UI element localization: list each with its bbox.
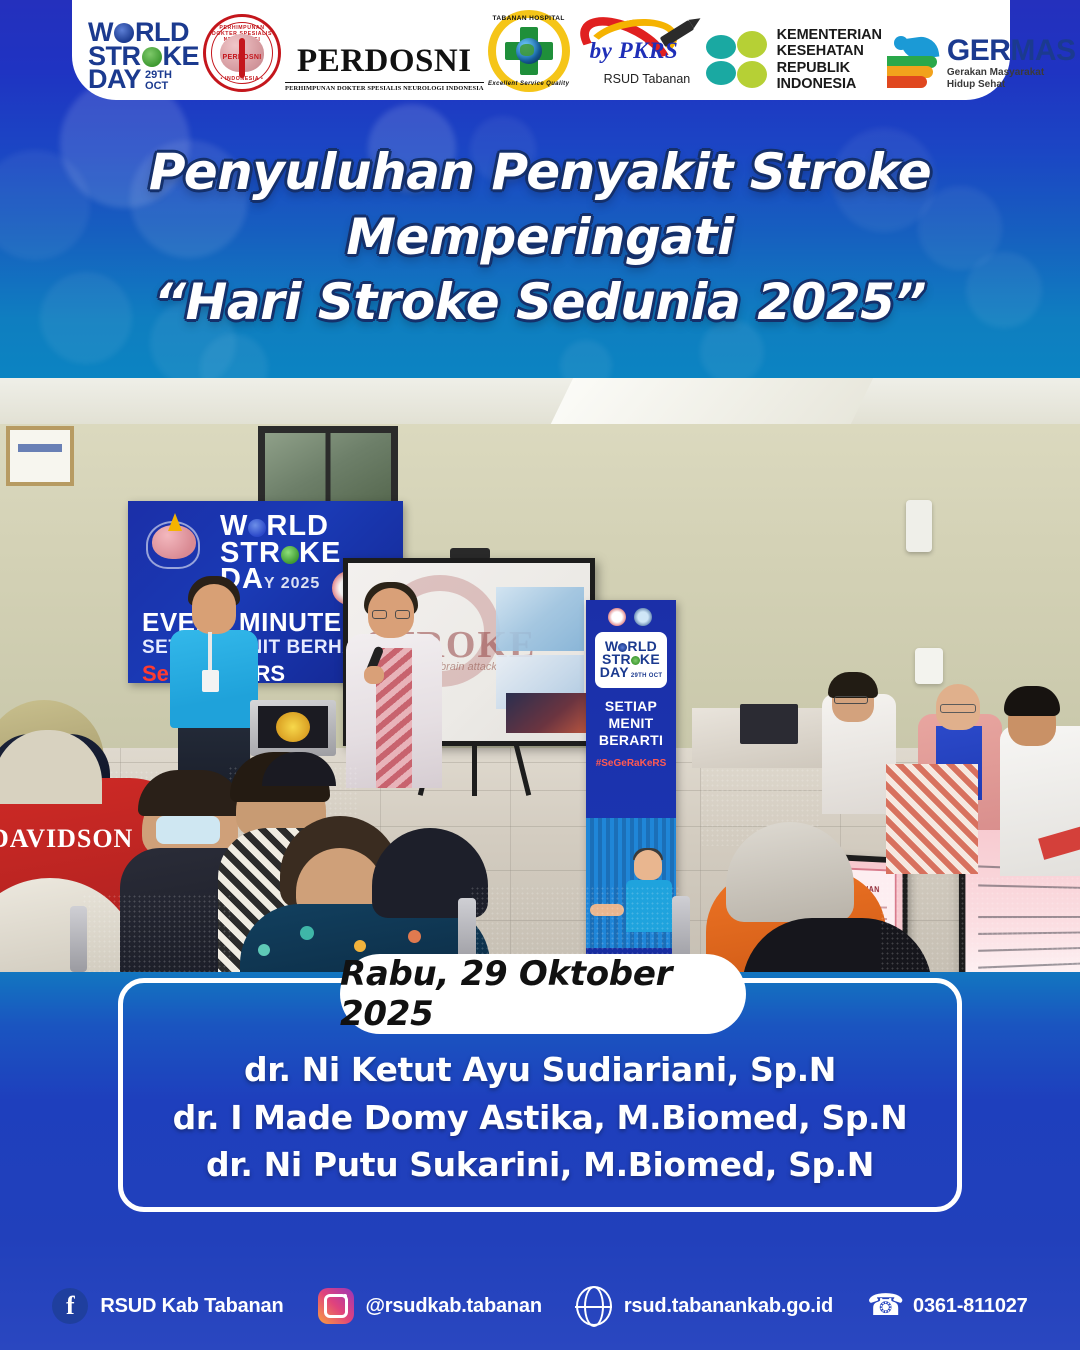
wsd-day: DAY bbox=[88, 68, 141, 92]
kemenkes-line-3: REPUBLIK bbox=[777, 60, 882, 76]
speaker-name: dr. Ni Putu Sukarini, M.Biomed, Sp.N bbox=[118, 1141, 962, 1189]
brain-lightning-icon bbox=[144, 519, 206, 571]
perdosni-wordmark-logo: PERDOSNI PERHIMPUNAN DOKTER SPESIALIS NE… bbox=[285, 43, 484, 92]
wsd-dot-blue bbox=[114, 23, 134, 43]
website-label: rsud.tabanankab.go.id bbox=[624, 1295, 833, 1318]
instagram-icon bbox=[318, 1288, 354, 1324]
germas-sub-2: Hidup Sehat bbox=[947, 79, 1076, 91]
rollup-line-1: SETIAP bbox=[586, 698, 676, 715]
banner-ke: KE bbox=[299, 537, 341, 569]
kemenkes-logo: KEMENTERIAN KESEHATAN REPUBLIK INDONESIA bbox=[706, 27, 882, 92]
room-window bbox=[258, 426, 398, 512]
pkrs-logo: by PKRS RSUD Tabanan bbox=[574, 14, 702, 92]
perdosni-seal-text: PERDOSNI bbox=[223, 54, 262, 61]
germas-sub-1: Gerakan Masyarakat bbox=[947, 67, 1076, 79]
germas-title: GERMAS bbox=[947, 36, 1076, 66]
phone-icon: ☎ bbox=[867, 1289, 901, 1323]
kemenkes-flower-icon bbox=[706, 31, 768, 89]
perdosni-wordmark-title: PERDOSNI bbox=[297, 43, 472, 80]
speaker-name: dr. Ni Ketut Ayu Sudiariani, Sp.N bbox=[118, 1046, 962, 1094]
kemenkes-line-4: INDONESIA bbox=[777, 76, 882, 92]
rollup-line-2: MENIT bbox=[586, 715, 676, 732]
contact-instagram[interactable]: @rsudkab.tabanan bbox=[318, 1288, 542, 1324]
germas-logo: GERMAS Gerakan Masyarakat Hidup Sehat bbox=[886, 34, 1076, 92]
contact-facebook[interactable]: f RSUD Kab Tabanan bbox=[52, 1288, 283, 1324]
slide-image-1 bbox=[496, 587, 584, 651]
contact-website[interactable]: rsud.tabanankab.go.id bbox=[576, 1286, 833, 1326]
globe-icon bbox=[516, 38, 542, 64]
rollup-line-3: BERARTI bbox=[586, 732, 676, 749]
facebook-icon: f bbox=[52, 1288, 88, 1324]
rollup-wsd-logo: WRLD STRKE DAY29TH OCT bbox=[595, 632, 667, 688]
speaker-name: dr. I Made Domy Astika, M.Biomed, Sp.N bbox=[118, 1094, 962, 1142]
perdosni-ring-bottom: • INDONESIA • bbox=[206, 76, 278, 82]
wsd-ke: KE bbox=[163, 45, 200, 69]
poster-root: WRLD STRKE DAY 29TH OCT PERHIMPUNAN DOKT… bbox=[0, 0, 1080, 1350]
facebook-label: RSUD Kab Tabanan bbox=[100, 1295, 283, 1318]
perdosni-brain-icon bbox=[220, 34, 264, 72]
speakers-list: dr. Ni Ketut Ayu Sudiariani, Sp.N dr. I … bbox=[118, 1046, 962, 1189]
kemenkes-line-2: KESEHATAN bbox=[777, 43, 882, 59]
tabanan-arc-top: TABANAN HOSPITAL bbox=[488, 15, 570, 22]
rollup-seals bbox=[608, 608, 652, 626]
germas-figure-icon bbox=[886, 34, 940, 92]
presenter-doctor bbox=[340, 588, 450, 788]
wsd-dot-green bbox=[142, 47, 162, 67]
globe-icon bbox=[576, 1286, 612, 1326]
contact-footer: f RSUD Kab Tabanan @rsudkab.tabanan rsud… bbox=[0, 1270, 1080, 1342]
wall-sensor bbox=[906, 500, 932, 552]
header-logo-card: WRLD STRKE DAY 29TH OCT PERHIMPUNAN DOKT… bbox=[72, 0, 1010, 100]
rollup-ke: KE bbox=[640, 651, 660, 667]
title-line-3: “Hari Stroke Sedunia 2025” bbox=[0, 270, 1080, 335]
wall-frame-small bbox=[6, 426, 74, 486]
world-stroke-day-logo: WRLD STRKE DAY 29TH OCT bbox=[88, 21, 199, 92]
wsd-date-month: OCT bbox=[145, 81, 172, 92]
event-date-pill: Rabu, 29 Oktober 2025 bbox=[340, 954, 746, 1034]
rollup-oct: 29TH OCT bbox=[631, 673, 662, 679]
wall-sensor-2 bbox=[915, 648, 943, 684]
contact-phone[interactable]: ☎ 0361-811027 bbox=[867, 1289, 1028, 1323]
title-line-2: Memperingati bbox=[0, 205, 1080, 270]
rollup-hashtag: #SeGeRaKeRS bbox=[586, 758, 676, 769]
slide-image-3 bbox=[506, 693, 586, 733]
poster-title: Penyuluhan Penyakit Stroke Memperingati … bbox=[0, 140, 1080, 335]
instagram-label: @rsudkab.tabanan bbox=[366, 1295, 542, 1318]
banner-year: Y 2025 bbox=[264, 575, 320, 592]
pkrs-title: by PKRS bbox=[590, 38, 678, 64]
id-badge bbox=[202, 670, 219, 692]
title-line-1: Penyuluhan Penyakit Stroke bbox=[0, 140, 1080, 205]
phone-label: 0361-811027 bbox=[913, 1295, 1028, 1318]
eyeglasses-icon bbox=[372, 610, 410, 619]
perdosni-wordmark-subtitle: PERHIMPUNAN DOKTER SPESIALIS NEUROLOGI I… bbox=[285, 82, 484, 92]
event-photo: MAKLUMAT PELAYANAN WRLD STRKE DAY 2025 bbox=[0, 378, 1080, 974]
kemenkes-line-1: KEMENTERIAN bbox=[777, 27, 882, 43]
rollup-day: DAY bbox=[600, 664, 629, 680]
pkrs-subtitle: RSUD Tabanan bbox=[604, 72, 691, 86]
perdosni-seal-logo: PERHIMPUNAN DOKTER SPESIALIS NEUROLOGI P… bbox=[203, 14, 281, 92]
tabanan-arc-bottom: Excellent Service Quality bbox=[488, 81, 570, 87]
tabanan-hospital-logo: TABANAN HOSPITAL Excellent Service Quali… bbox=[488, 10, 570, 92]
event-date-label: Rabu, 29 Oktober 2025 bbox=[340, 954, 746, 1034]
